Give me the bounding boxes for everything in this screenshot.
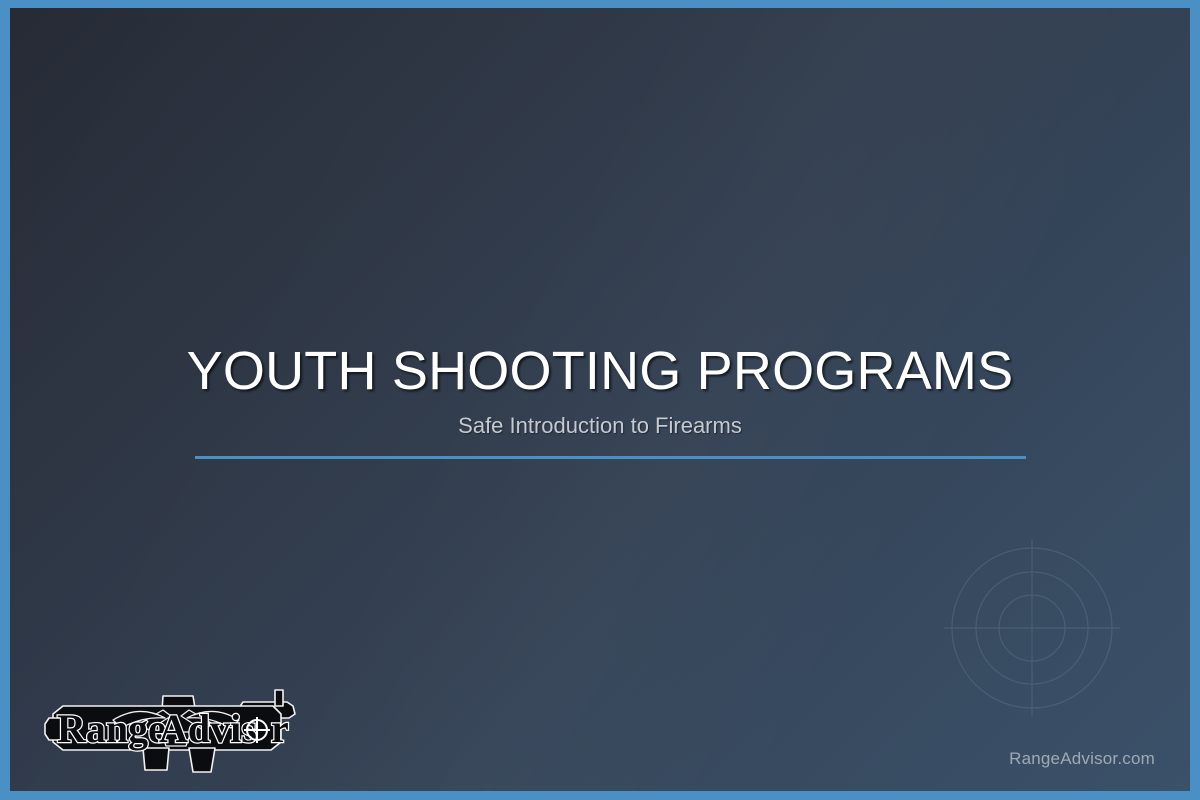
slide-canvas: YOUTH SHOOTING PROGRAMS Safe Introductio… — [10, 8, 1190, 791]
footer-url: RangeAdvisor.com — [1009, 749, 1155, 769]
presentation-slide: YOUTH SHOOTING PROGRAMS Safe Introductio… — [0, 0, 1200, 800]
target-crosshair-icon — [942, 538, 1122, 718]
brand-logo: Range Advis r — [43, 680, 309, 774]
title-divider — [195, 456, 1026, 459]
logo-word-r: r — [271, 706, 289, 751]
logo-word-advis: Advis — [159, 706, 257, 751]
page-title: YOUTH SHOOTING PROGRAMS — [10, 344, 1190, 399]
page-subtitle: Safe Introduction to Firearms — [10, 413, 1190, 439]
title-block: YOUTH SHOOTING PROGRAMS Safe Introductio… — [10, 344, 1190, 439]
logo-word-range: Range — [57, 706, 166, 751]
